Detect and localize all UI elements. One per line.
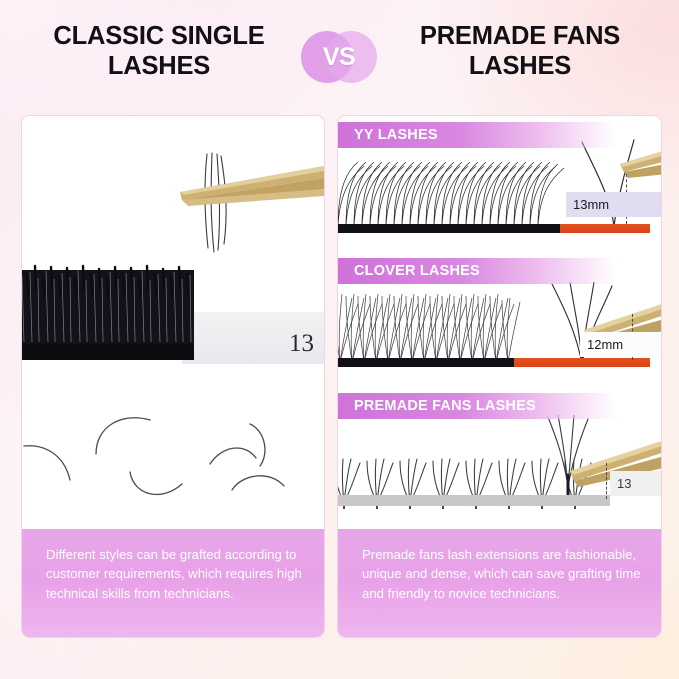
vs-badge: VS	[301, 31, 377, 83]
premade-measure-guide	[606, 463, 607, 499]
tweezer-single-lash-illustration	[174, 144, 324, 284]
ruler-measurement-value: 13	[289, 330, 314, 358]
premade-measure-label: 13	[610, 471, 661, 496]
section-clover-lashes: CLOVER LASHES	[338, 252, 661, 388]
yy-tray-black-base	[338, 224, 560, 233]
section-label-clover-lashes: CLOVER LASHES	[338, 258, 661, 284]
classic-lash-tray-media: 13	[22, 116, 324, 368]
section-label-yy-lashes: YY LASHES	[338, 122, 661, 148]
clover-tray-red-base	[514, 358, 650, 367]
page-title-right: PREMADE FANS LASHES	[379, 22, 661, 81]
ruler-plate: 13	[182, 312, 324, 364]
gold-tweezer-yy	[620, 144, 661, 178]
panel-classic-single-lashes: 13	[21, 115, 325, 638]
vs-label: VS	[301, 31, 377, 83]
yy-tray-red-base	[560, 224, 650, 233]
classic-lash-strip	[22, 252, 194, 360]
premade-tray-grey-base	[338, 495, 610, 506]
premade-fans-caption: Premade fans lash extensions are fashion…	[338, 529, 661, 637]
section-yy-lashes: YY LASHES	[338, 116, 661, 253]
infographic-root: CLASSIC SINGLE LASHES VS PREMADE FANS LA…	[0, 0, 679, 679]
classic-lashes-caption: Different styles can be grafted accordin…	[22, 529, 324, 637]
individual-curved-lashes-illustration	[22, 368, 324, 529]
page-title-left: CLASSIC SINGLE LASHES	[18, 22, 300, 81]
section-premade-fans-lashes: PREMADE FANS LASHES	[338, 387, 661, 530]
clover-measure-label: 12mm	[580, 332, 661, 357]
gold-tweezer-left	[180, 166, 324, 206]
single-lashes-detail-media	[22, 368, 324, 529]
clover-tray-black-base	[338, 358, 514, 367]
section-label-premade-fans-lashes: PREMADE FANS LASHES	[338, 393, 661, 419]
panel-premade-fans-lashes: YY LASHES	[337, 115, 662, 638]
header: CLASSIC SINGLE LASHES VS PREMADE FANS LA…	[0, 22, 679, 96]
yy-measure-label: 13mm	[566, 192, 661, 217]
